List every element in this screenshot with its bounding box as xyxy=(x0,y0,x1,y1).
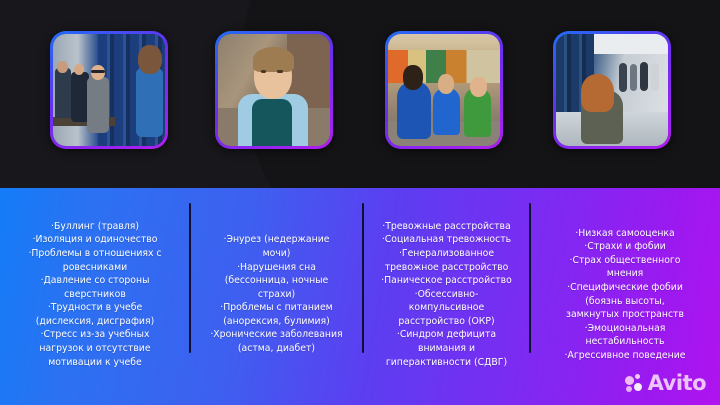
slide-root: ·Буллинг (травля) ·Изоляция и одиночеств… xyxy=(0,0,720,405)
photo-card-lonely-girl xyxy=(553,31,671,149)
list-item: ·Проблемы в отношениях с ровесниками xyxy=(28,247,161,274)
avito-logo-text: Avito xyxy=(648,374,706,393)
photo-image-4 xyxy=(556,34,668,146)
list-item: ·Стресс из-за учебных нагрузок и отсутст… xyxy=(28,328,161,369)
list-item: ·Низкая самооценка xyxy=(565,227,686,241)
list-item: ·Буллинг (травля) xyxy=(28,220,161,234)
list-item: ·Трудности в учебе (дислексия, дисграфия… xyxy=(28,301,161,328)
list-item: ·Страхи и фобии xyxy=(565,240,686,254)
photo-image-1 xyxy=(53,34,165,146)
columns-container: ·Буллинг (травля) ·Изоляция и одиночеств… xyxy=(0,188,720,405)
content-panel: ·Буллинг (травля) ·Изоляция и одиночеств… xyxy=(0,188,720,405)
photo-image-2 xyxy=(218,34,330,146)
photo-card-sad-boy xyxy=(215,31,333,149)
column-divider-3 xyxy=(529,203,531,353)
list-item: ·Хронические заболевания (астма, диабет) xyxy=(210,328,342,355)
list-item: ·Нарушения сна (бессонница, ночные страх… xyxy=(210,261,342,302)
photo-card-teens-lockers xyxy=(50,31,168,149)
photo-strip xyxy=(0,0,720,190)
list-item: ·Энурез (недержание мочи) xyxy=(210,233,342,260)
list-item: ·Эмоциональная нестабильность xyxy=(565,322,686,349)
photo-image-3 xyxy=(388,34,500,146)
list-item: ·Генерализованное тревожное расстройство xyxy=(381,247,512,274)
avito-logo-icon xyxy=(625,374,644,393)
list-item: ·Страх общественного мнения xyxy=(565,254,686,281)
list-item: ·Проблемы с питанием (анорексия, булимия… xyxy=(210,301,342,328)
column-divider-2 xyxy=(362,203,364,353)
list-item: ·Специфические фобии (боязнь высоты, зам… xyxy=(565,281,686,322)
column-divider-1 xyxy=(189,203,191,353)
avito-watermark: Avito xyxy=(625,374,706,393)
list-item: ·Обсессивно- компульсивное расстройство … xyxy=(381,288,512,329)
column-2-text: ·Энурез (недержание мочи) ·Нарушения сна… xyxy=(201,233,351,355)
list-item: ·Изоляция и одиночество xyxy=(28,233,161,247)
list-item: ·Паническое расстройство xyxy=(381,274,512,288)
column-physiological-problems: ·Энурез (недержание мочи) ·Нарушения сна… xyxy=(190,188,363,405)
column-1-text: ·Буллинг (травля) ·Изоляция и одиночеств… xyxy=(19,220,170,370)
column-3-text: ·Тревожные расстройства ·Социальная трев… xyxy=(372,220,521,370)
column-social-school-problems: ·Буллинг (травля) ·Изоляция и одиночеств… xyxy=(0,188,190,405)
list-item: ·Агрессивное поведение xyxy=(565,349,686,363)
list-item: ·Социальная тревожность xyxy=(381,233,512,247)
list-item: ·Тревожные расстройства xyxy=(381,220,512,234)
column-anxiety-disorders: ·Тревожные расстройства ·Социальная трев… xyxy=(363,188,530,405)
photo-card-classroom-circle xyxy=(385,31,503,149)
photo-row xyxy=(0,0,720,190)
list-item: ·Синдром дефицита внимания и гиперактивн… xyxy=(381,328,512,369)
column-4-text: ·Низкая самооценка ·Страхи и фобии ·Стра… xyxy=(556,227,695,363)
list-item: ·Давление со стороны сверстников xyxy=(28,274,161,301)
